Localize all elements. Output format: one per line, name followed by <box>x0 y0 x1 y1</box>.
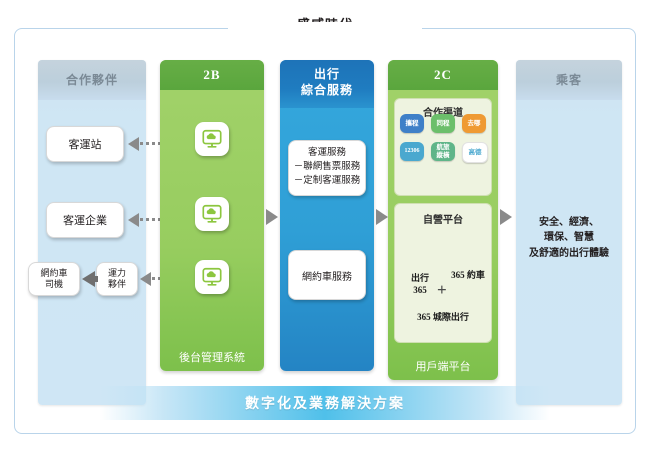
channel-chip-12306[interactable]: 12306 <box>400 142 424 161</box>
column-travel-services-header: 出行 綜合服務 <box>280 60 374 108</box>
partner-card-ride-hailing-driver-label: 網約車 司機 <box>40 268 67 290</box>
channel-chip-umetrip-label: 航旅 縱橫 <box>437 144 450 159</box>
arrow-2b-to-travel <box>266 209 278 225</box>
solution-banner-label: 數字化及業務解決方案 <box>245 393 405 413</box>
column-2b-footer: 後台管理系統 <box>160 345 264 371</box>
cloud-monitor-icon-tile-2[interactable] <box>195 197 229 231</box>
channel-chip-qunar[interactable]: 去哪 <box>462 114 486 133</box>
cloud-monitor-icon <box>201 203 223 225</box>
plus-sign: + <box>437 281 447 298</box>
arrow-capacity-to-driver-tail <box>92 276 98 282</box>
connector-dashes-bus-enterprise <box>140 218 162 221</box>
partner-card-capacity-partner-label: 運力 夥伴 <box>108 268 126 290</box>
channel-chip-tongcheng-label: 同程 <box>437 120 450 127</box>
solution-banner: 數字化及業務解決方案 <box>100 386 550 420</box>
connector-dashes-bus-station <box>140 142 162 145</box>
cloud-monitor-icon-tile-1[interactable] <box>195 122 229 156</box>
column-2c-header: 2C <box>388 60 498 90</box>
self-platform-travel365[interactable]: 出行 365 <box>398 262 442 296</box>
partner-card-bus-station-label: 客運站 <box>69 136 102 152</box>
partner-card-ride-hailing-driver[interactable]: 網約車 司機 <box>28 262 80 296</box>
arrow-2c-to-passengers <box>500 209 512 225</box>
self-operated-title: 自營平台 <box>395 211 491 226</box>
passenger-benefit-label: 安全、經濟、 環保、智慧 及舒適的出行體驗 <box>529 217 609 259</box>
travel-card-ride-hailing-service[interactable]: 網約車服務 <box>288 250 366 300</box>
channel-chip-12306-label: 12306 <box>405 148 420 155</box>
column-travel-services: 出行 綜合服務 <box>280 60 374 371</box>
self-platform-365-intercity-label: 365 城際出行 <box>417 312 469 322</box>
self-platform-365-intercity[interactable]: 365 城際出行 <box>394 312 492 323</box>
partner-card-bus-station[interactable]: 客運站 <box>46 126 124 162</box>
self-platform-travel365-label: 出行 365 <box>411 273 429 294</box>
self-platform-365-ride[interactable]: 365 約車 <box>444 270 492 281</box>
column-partners-header: 合作夥伴 <box>38 60 146 100</box>
channel-chip-umetrip[interactable]: 航旅 縱橫 <box>431 142 455 161</box>
partner-card-bus-enterprise[interactable]: 客運企業 <box>46 202 124 238</box>
travel-card-ride-hailing-service-label: 網約車服務 <box>302 268 352 283</box>
self-platform-365-ride-label: 365 約車 <box>451 270 485 280</box>
arrow-travel-to-2c <box>376 209 388 225</box>
cloud-monitor-icon <box>201 128 223 150</box>
channel-chip-ctrip-label: 攜程 <box>406 120 419 127</box>
column-2c-footer: 用戶端平台 <box>388 354 498 380</box>
connector-arrow-bus-enterprise <box>128 213 139 227</box>
cloud-monitor-icon <box>201 266 223 288</box>
partner-card-capacity-partner[interactable]: 運力 夥伴 <box>96 262 138 296</box>
column-passengers-header: 乘客 <box>516 60 622 100</box>
connector-arrow-bus-station <box>128 137 139 151</box>
channel-chip-qunar-label: 去哪 <box>468 120 481 127</box>
channel-chip-ctrip[interactable]: 攜程 <box>400 114 424 133</box>
plus-sign-label: + <box>437 280 447 299</box>
cloud-monitor-icon-tile-3[interactable] <box>195 260 229 294</box>
channel-chip-amap[interactable]: 高德 <box>462 142 488 163</box>
connector-arrow-driver <box>140 272 151 286</box>
travel-card-bus-service-label: 客運服務 －聯網售票服務 －定制客運服務 <box>294 147 361 188</box>
channel-chip-tongcheng[interactable]: 同程 <box>431 114 455 133</box>
frame-title-gap <box>228 22 422 36</box>
travel-card-bus-service[interactable]: 客運服務 －聯網售票服務 －定制客運服務 <box>288 140 366 196</box>
column-2b-header: 2B <box>160 60 264 90</box>
passenger-benefit-text: 安全、經濟、 環保、智慧 及舒適的出行體驗 <box>516 199 622 261</box>
partner-card-bus-enterprise-label: 客運企業 <box>63 212 107 228</box>
channel-chip-amap-label: 高德 <box>469 149 482 156</box>
